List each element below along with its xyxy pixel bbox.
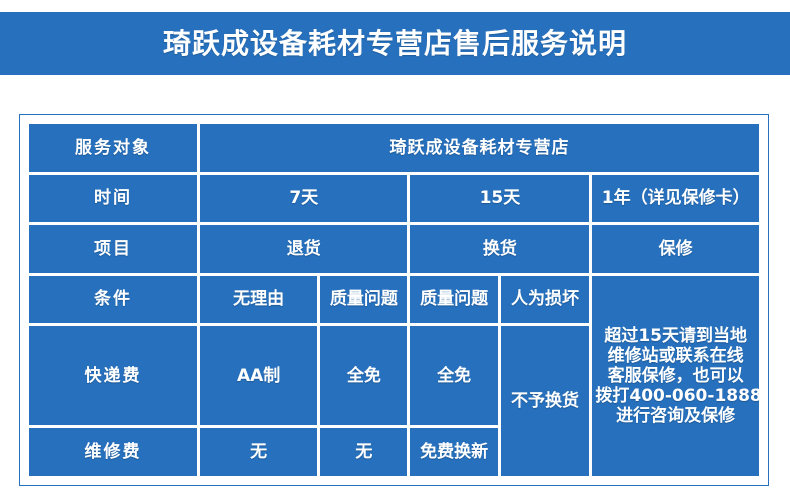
table-row: 条件 无理由 质量问题 质量问题 人为损坏 超过15天请到当地 维修站或联系在线…: [29, 276, 759, 324]
note-line-1: 超过15天请到当地: [595, 326, 756, 346]
row-label-shipping-fee: 快递费: [29, 326, 197, 425]
cell-condition-quality-1: 质量问题: [320, 276, 407, 324]
page-title: 琦跃成设备耗材专营店售后服务说明: [163, 30, 627, 58]
cell-condition-no-reason: 无理由: [200, 276, 317, 324]
cell-repair-free-replace: 免费换新: [410, 428, 497, 476]
cell-duration-warranty: 1年（详见保修卡）: [592, 175, 759, 223]
row-label-item: 项目: [29, 225, 197, 273]
cell-no-exchange: 不予换货: [501, 326, 590, 476]
note-line-5: 进行咨询及保修: [595, 406, 756, 426]
row-label-repair-fee: 维修费: [29, 428, 197, 476]
cell-duration-exchange: 15天: [410, 175, 589, 223]
row-label-service-target: 服务对象: [29, 124, 197, 172]
cell-item-warranty: 保修: [592, 225, 759, 273]
note-line-4: 拨打400-060-1888: [595, 386, 756, 406]
cell-shipping-aa: AA制: [200, 326, 317, 425]
service-policy-table-frame: 服务对象 琦跃成设备耗材专营店 时间 7天 15天 1年（详见保修卡） 项目 退…: [19, 114, 769, 486]
header-banner: 琦跃成设备耗材专营店售后服务说明: [0, 12, 790, 75]
cell-item-exchange: 换货: [410, 225, 589, 273]
cell-condition-damage: 人为损坏: [501, 276, 590, 324]
cell-shipping-free-1: 全免: [320, 326, 407, 425]
table-row: 服务对象 琦跃成设备耗材专营店: [29, 124, 759, 172]
cell-item-return: 退货: [200, 225, 407, 273]
service-policy-table: 服务对象 琦跃成设备耗材专营店 时间 7天 15天 1年（详见保修卡） 项目 退…: [26, 121, 762, 479]
cell-repair-none-1: 无: [200, 428, 317, 476]
cell-warranty-note: 超过15天请到当地 维修站或联系在线 客服保修，也可以 拨打400-060-18…: [592, 276, 759, 476]
cell-repair-none-2: 无: [320, 428, 407, 476]
row-label-condition: 条件: [29, 276, 197, 324]
cell-store-name: 琦跃成设备耗材专营店: [200, 124, 759, 172]
note-line-3: 客服保修，也可以: [595, 366, 756, 386]
cell-duration-return: 7天: [200, 175, 407, 223]
row-label-duration: 时间: [29, 175, 197, 223]
cell-shipping-free-2: 全免: [410, 326, 497, 425]
note-line-2: 维修站或联系在线: [595, 346, 756, 366]
table-row: 时间 7天 15天 1年（详见保修卡）: [29, 175, 759, 223]
cell-condition-quality-2: 质量问题: [410, 276, 497, 324]
table-row: 项目 退货 换货 保修: [29, 225, 759, 273]
after-sales-service-infographic: 琦跃成设备耗材专营店售后服务说明 服务对象 琦跃成设备耗材专营店 时间 7天: [0, 0, 790, 501]
